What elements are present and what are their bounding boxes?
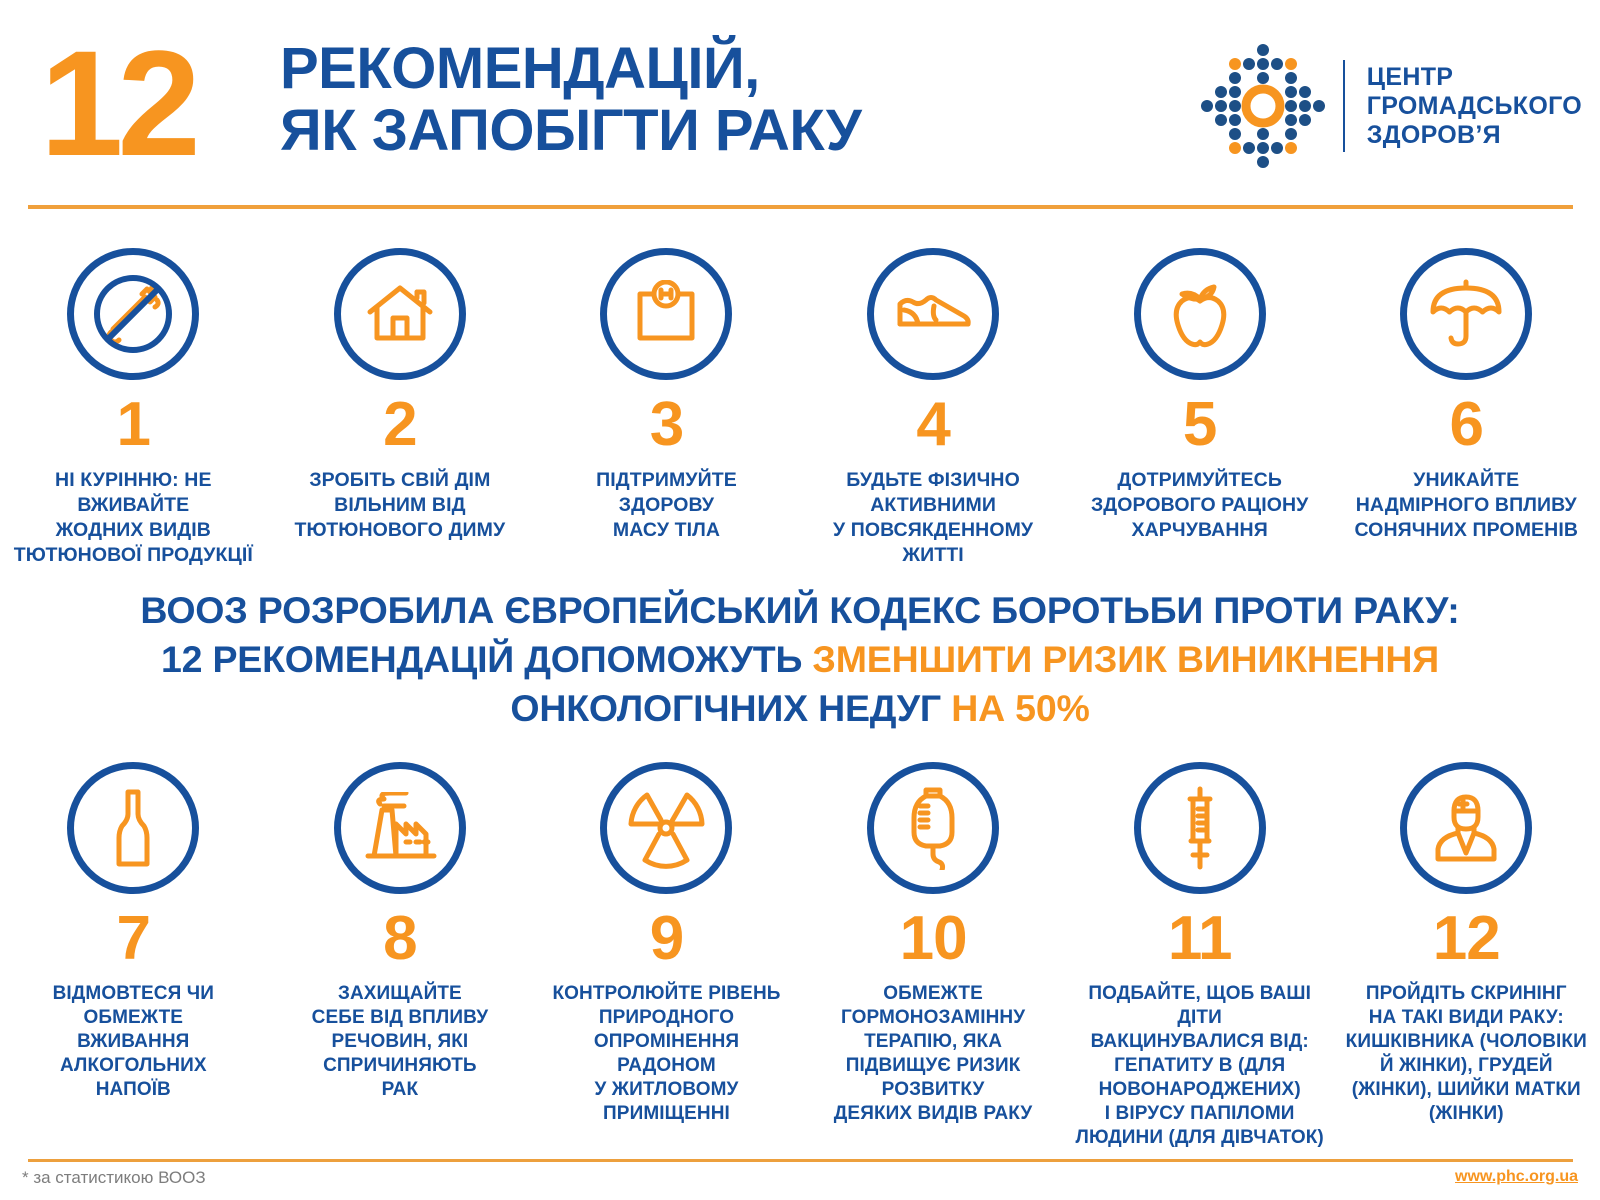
phc-logo-mark-icon	[1197, 40, 1329, 172]
item-number: 11	[1168, 908, 1232, 970]
infographic-page: 12 РЕКОМЕНДАЦІЙ, ЯК ЗАПОБІГТИ РАКУ	[0, 0, 1600, 1200]
recommendation-item: 7 ВІДМОВТЕСЯ ЧИ ОБМЕЖТЕ ВЖИВАННЯ АЛКОГОЛ…	[0, 762, 267, 1150]
item-number: 6	[1450, 394, 1483, 456]
item-number: 12	[1433, 908, 1500, 970]
recommendation-item: 3 ПІДТРИМУЙТЕ ЗДОРОВУ МАСУ ТІЛА	[533, 248, 800, 568]
header-divider	[28, 205, 1573, 209]
recommendation-item: 9 КОНТРОЛЮЙТЕ РІВЕНЬ ПРИРОДНОГО ОПРОМІНЕ…	[533, 762, 800, 1150]
factory-icon	[360, 792, 440, 864]
logo-text-line-1: ЦЕНТР	[1367, 63, 1582, 92]
radiation-icon	[625, 787, 707, 869]
umbrella-icon	[1428, 278, 1504, 350]
recommendation-item: 11 ПОДБАЙТЕ, ЩОБ ВАШІ ДІТИ ВАКЦИНУВАЛИСЯ…	[1066, 762, 1333, 1150]
recommendation-item: 4 БУДЬТЕ ФІЗИЧНО АКТИВНИМИ У ПОВСЯКДЕННО…	[800, 248, 1067, 568]
icon-circle	[867, 248, 999, 380]
item-description: ЗАХИЩАЙТЕ СЕБЕ ВІД ВПЛИВУ РЕЧОВИН, ЯКІ С…	[306, 982, 495, 1102]
recommendation-item: 10 ОБМЕЖТЕ ГОРМОНОЗАМІННУ ТЕРАПІЮ, ЯКА П…	[800, 762, 1067, 1150]
recommendation-item: 5 ДОТРИМУЙТЕСЬ ЗДОРОВОГО РАЦІОНУ ХАРЧУВА…	[1066, 248, 1333, 568]
banner-line-2: 12 РЕКОМЕНДАЦІЙ ДОПОМОЖУТЬ ЗМЕНШИТИ РИЗИ…	[0, 635, 1600, 684]
logo-text-line-3: ЗДОРОВ’Я	[1367, 121, 1582, 150]
icon-circle	[867, 762, 999, 894]
footer-divider	[28, 1159, 1573, 1162]
phc-logo: ЦЕНТР ГРОМАДСЬКОГО ЗДОРОВ’Я	[1197, 40, 1582, 172]
weight-scale-icon	[632, 280, 700, 348]
item-description: ВІДМОВТЕСЯ ЧИ ОБМЕЖТЕ ВЖИВАННЯ АЛКОГОЛЬН…	[47, 982, 220, 1102]
item-description: ПРОЙДІТЬ СКРИНІНГ НА ТАКІ ВИДИ РАКУ: КИШ…	[1340, 982, 1593, 1126]
banner: ВООЗ РОЗРОБИЛА ЄВРОПЕЙСЬКИЙ КОДЕКС БОРОТ…	[0, 586, 1600, 733]
item-number: 9	[650, 908, 683, 970]
item-description: ЗРОБІТЬ СВІЙ ДІМ ВІЛЬНИМ ВІД ТЮТЮНОВОГО …	[289, 468, 512, 543]
icon-circle	[1400, 762, 1532, 894]
item-description: ОБМЕЖТЕ ГОРМОНОЗАМІННУ ТЕРАПІЮ, ЯКА ПІДВ…	[828, 982, 1039, 1126]
logo-text-line-2: ГРОМАДСЬКОГО	[1367, 92, 1582, 121]
item-number: 3	[650, 394, 683, 456]
item-number: 4	[916, 394, 949, 456]
recommendation-item: 12 ПРОЙДІТЬ СКРИНІНГ НА ТАКІ ВИДИ РАКУ: …	[1333, 762, 1600, 1150]
item-number: 7	[117, 908, 150, 970]
item-number: 1	[117, 394, 150, 456]
item-description: БУДЬТЕ ФІЗИЧНО АКТИВНИМИ У ПОВСЯКДЕННОМУ…	[800, 468, 1067, 568]
footer-website-link[interactable]: www.phc.org.ua	[1455, 1168, 1578, 1186]
logo-divider	[1343, 60, 1345, 152]
apple-icon	[1168, 279, 1232, 349]
item-number: 5	[1183, 394, 1216, 456]
banner-line-3-highlight: НА 50%	[951, 687, 1089, 729]
bottle-icon	[110, 788, 156, 868]
icon-circle	[334, 248, 466, 380]
sneaker-icon	[894, 286, 972, 342]
icon-circle	[600, 762, 732, 894]
item-description: ПОДБАЙТЕ, ЩОБ ВАШІ ДІТИ ВАКЦИНУВАЛИСЯ ВІ…	[1066, 982, 1333, 1150]
recommendation-item: 8 ЗАХИЩАЙТЕ СЕБЕ ВІД ВПЛИВУ РЕЧОВИН, ЯКІ…	[267, 762, 534, 1150]
item-description: НІ КУРІННЮ: НЕ ВЖИВАЙТЕ ЖОДНИХ ВИДІВ ТЮТ…	[0, 468, 267, 568]
header-title-line-2: ЯК ЗАПОБІГТИ РАКУ	[280, 100, 861, 162]
icon-circle	[1134, 248, 1266, 380]
house-icon	[364, 278, 436, 350]
item-number: 10	[900, 908, 967, 970]
recommendation-item: 6 УНИКАЙТЕ НАДМІРНОГО ВПЛИВУ СОНЯЧНИХ ПР…	[1333, 248, 1600, 568]
recommendations-row-1: 1 НІ КУРІННЮ: НЕ ВЖИВАЙТЕ ЖОДНИХ ВИДІВ Т…	[0, 248, 1600, 568]
recommendation-item: 1 НІ КУРІННЮ: НЕ ВЖИВАЙТЕ ЖОДНИХ ВИДІВ Т…	[0, 248, 267, 568]
item-number: 8	[383, 908, 416, 970]
footer-note: * за статистикою ВООЗ	[22, 1168, 206, 1188]
item-description: КОНТРОЛЮЙТЕ РІВЕНЬ ПРИРОДНОГО ОПРОМІНЕНН…	[546, 982, 786, 1126]
no-smoking-icon	[93, 274, 173, 354]
icon-circle	[600, 248, 732, 380]
item-number: 2	[383, 394, 416, 456]
logo-text: ЦЕНТР ГРОМАДСЬКОГО ЗДОРОВ’Я	[1367, 63, 1582, 150]
header-title-line-1: РЕКОМЕНДАЦІЙ,	[280, 38, 861, 100]
iv-drip-icon	[908, 786, 958, 870]
header: 12 РЕКОМЕНДАЦІЙ, ЯК ЗАПОБІГТИ РАКУ	[0, 0, 1600, 200]
icon-circle	[67, 248, 199, 380]
item-description: УНИКАЙТЕ НАДМІРНОГО ВПЛИВУ СОНЯЧНИХ ПРОМ…	[1348, 468, 1584, 543]
syringe-icon	[1178, 785, 1222, 871]
icon-circle	[1134, 762, 1266, 894]
banner-line-2-plain: 12 РЕКОМЕНДАЦІЙ ДОПОМОЖУТЬ	[161, 638, 812, 680]
header-big-number: 12	[40, 28, 195, 178]
banner-line-1: ВООЗ РОЗРОБИЛА ЄВРОПЕЙСЬКИЙ КОДЕКС БОРОТ…	[0, 586, 1600, 635]
item-description: ПІДТРИМУЙТЕ ЗДОРОВУ МАСУ ТІЛА	[590, 468, 743, 543]
recommendation-item: 2 ЗРОБІТЬ СВІЙ ДІМ ВІЛЬНИМ ВІД ТЮТЮНОВОГ…	[267, 248, 534, 568]
banner-line-3-plain: ОНКОЛОГІЧНИХ НЕДУГ	[510, 687, 951, 729]
icon-circle	[67, 762, 199, 894]
item-description: ДОТРИМУЙТЕСЬ ЗДОРОВОГО РАЦІОНУ ХАРЧУВАНН…	[1085, 468, 1314, 543]
icon-circle	[334, 762, 466, 894]
banner-line-3: ОНКОЛОГІЧНИХ НЕДУГ НА 50%	[0, 684, 1600, 733]
banner-line-2-highlight: ЗМЕНШИТИ РИЗИК ВИНИКНЕННЯ	[812, 638, 1439, 680]
header-title: РЕКОМЕНДАЦІЙ, ЯК ЗАПОБІГТИ РАКУ	[280, 38, 861, 162]
recommendations-row-2: 7 ВІДМОВТЕСЯ ЧИ ОБМЕЖТЕ ВЖИВАННЯ АЛКОГОЛ…	[0, 762, 1600, 1150]
icon-circle	[1400, 248, 1532, 380]
doctor-icon	[1427, 789, 1505, 867]
